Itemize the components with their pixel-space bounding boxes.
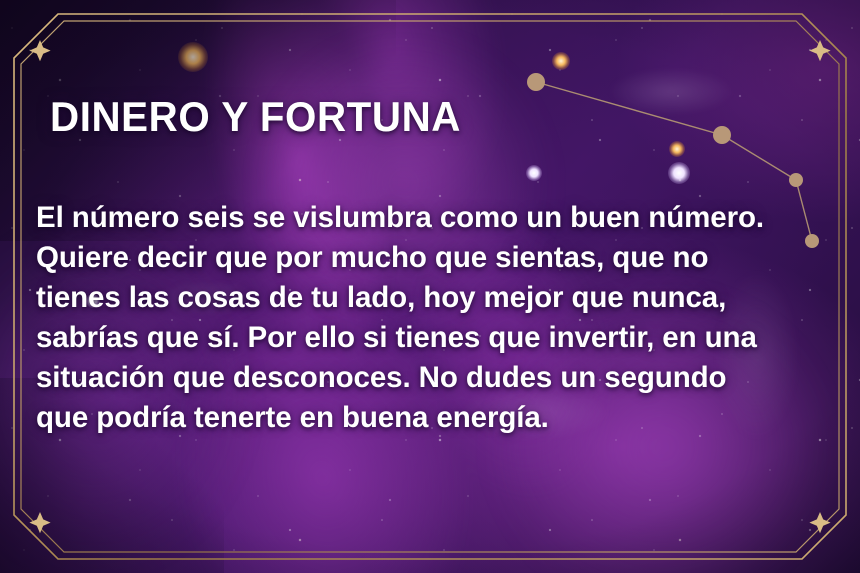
body-line: El número seis se vislumbra como un buen… — [36, 198, 826, 238]
horoscope-card: DINERO Y FORTUNA El número seis se vislu… — [0, 0, 860, 573]
page-title: DINERO Y FORTUNA — [50, 96, 461, 138]
horoscope-body-text: El número seis se vislumbra como un buen… — [36, 198, 826, 438]
card-content: DINERO Y FORTUNA El número seis se vislu… — [0, 0, 860, 573]
body-line: situación que desconoces. No dudes un se… — [36, 358, 826, 398]
body-line: Quiere decir que por mucho que sientas, … — [36, 238, 826, 278]
body-line: que podría tenerte en buena energía. — [36, 398, 826, 438]
body-line: sabrías que sí. Por ello si tienes que i… — [36, 318, 826, 358]
body-line: tienes las cosas de tu lado, hoy mejor q… — [36, 278, 826, 318]
